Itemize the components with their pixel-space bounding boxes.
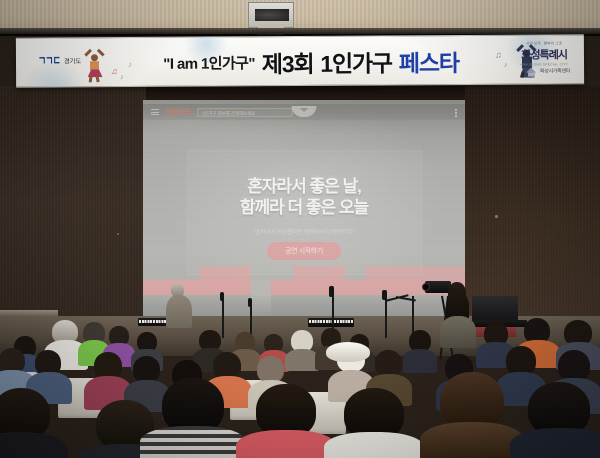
search-input[interactable]: 1인가구 정보를 검색해보세요 xyxy=(197,108,293,117)
white-hat xyxy=(326,342,370,362)
audience-member-front xyxy=(516,382,600,458)
hwaseong-name: 화성특례시 xyxy=(520,46,568,62)
slide-title-line1: 혼자라서 좋은 날, xyxy=(143,176,465,197)
slide-band-3 xyxy=(365,266,465,280)
banner-quote: "I am 1인가구" xyxy=(163,52,255,74)
start-performance-button[interactable]: 공연 시작하기 xyxy=(267,242,341,260)
audience-member xyxy=(88,352,126,406)
slide-subtitle: "혼자라서 자유롭지만 함께라서 더 행복하다" xyxy=(143,227,465,236)
audience-member xyxy=(288,330,316,368)
slide-nav-bar: 1인가구 1인가구 정보를 검색해보세요 xyxy=(143,104,465,120)
banner-subject: 1인가구 xyxy=(320,44,392,78)
slide-title-line2: 함께라 더 좋은 오늘 xyxy=(143,197,465,218)
slide-band-2 xyxy=(293,266,345,280)
hwaseong-city-logo: 시민 모두, 행복이 그곳 화성특례시 HWASEONG SPECIAL CIT… xyxy=(520,41,568,66)
camera-operator-right xyxy=(440,282,476,346)
banner-edition: 제3회 xyxy=(262,45,314,79)
banner-accent-word: 페스타 xyxy=(399,44,459,78)
camera-lens-icon xyxy=(422,283,430,291)
ceiling-projector xyxy=(248,2,294,28)
event-banner: ㄱㄱㄷ 경기도 ♫ ♪ ♪ ♫ ♪ "I am 1인가구" 제3회 1인가구 페… xyxy=(16,34,584,87)
slide-title: 혼자라서 좋은 날, 함께라 더 좋은 오늘 xyxy=(143,176,465,218)
audience-member-front xyxy=(246,384,326,458)
shield-icon xyxy=(292,106,317,117)
wall-light-spot xyxy=(495,215,498,218)
auditorium-scene: ㄱㄱㄷ 경기도 ♫ ♪ ♪ ♫ ♪ "I am 1인가구" 제3회 1인가구 페… xyxy=(0,0,600,458)
keyboard-center-keys xyxy=(309,320,353,323)
hamburger-menu-icon[interactable] xyxy=(151,109,159,115)
wall-light-spot-2 xyxy=(117,233,119,235)
family-center-name: 화성시가족센터 xyxy=(540,67,570,74)
audience-member-with-hat xyxy=(326,340,370,370)
audience-member-front xyxy=(426,372,518,458)
slide-logo: 1인가구 xyxy=(166,107,190,118)
audience-member-front xyxy=(332,388,416,458)
slide-band-1 xyxy=(199,266,251,280)
grand-piano-right xyxy=(472,296,518,322)
banner-title: "I am 1인가구" 제3회 1인가구 페스타 xyxy=(16,35,584,87)
microphone-head-1 xyxy=(220,292,224,301)
audience-member xyxy=(406,330,434,368)
microphone-head-2 xyxy=(248,298,252,307)
seated-performer-left xyxy=(166,284,192,328)
audience-member-front xyxy=(0,388,60,458)
family-center-logo: 화성시가족센터 xyxy=(526,65,570,76)
slide-band-4 xyxy=(143,280,251,295)
audience-member-front xyxy=(150,378,236,458)
operator-body xyxy=(440,316,476,348)
left-wall-panel xyxy=(0,86,146,346)
kebab-menu-icon[interactable] xyxy=(455,109,457,117)
house-icon xyxy=(526,66,537,77)
performer-body xyxy=(166,295,192,328)
microphone-head-3 xyxy=(329,286,334,297)
